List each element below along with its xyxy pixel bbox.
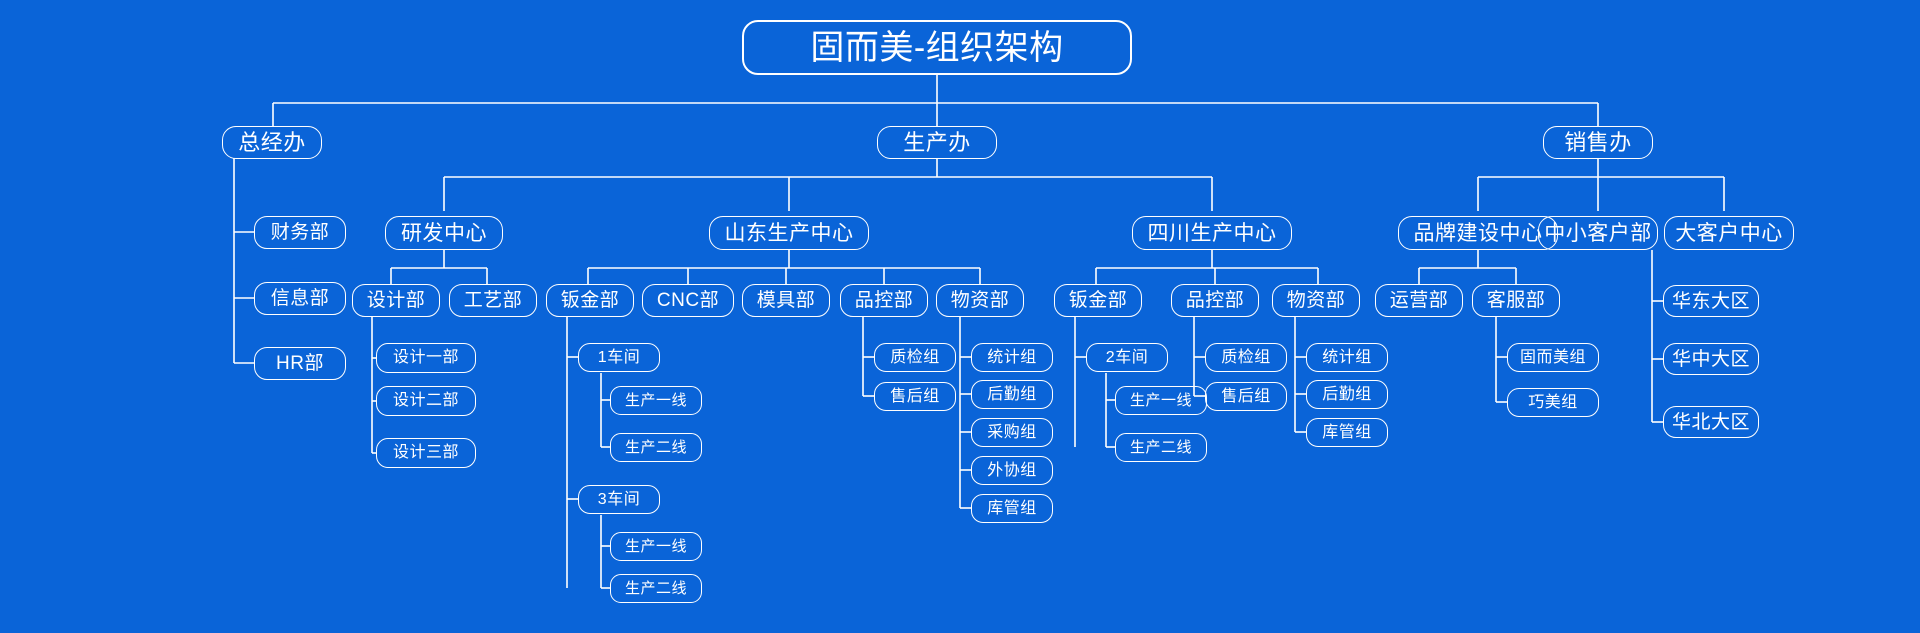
center-label: 中小客户部 [1544, 223, 1652, 244]
team-qiaomei[interactable]: 巧美组 [1507, 388, 1599, 417]
workshop-label: 3车间 [598, 492, 640, 508]
region-north-china[interactable]: 华北大区 [1663, 406, 1759, 438]
team-guermei[interactable]: 固而美组 [1507, 343, 1599, 372]
region-label: 华中大区 [1672, 350, 1750, 369]
center-label: 品牌建设中心 [1414, 223, 1543, 244]
team-label: 后勤组 [1322, 387, 1372, 403]
org-root-node[interactable]: 固而美-组织架构 [742, 20, 1132, 75]
line-label: 生产二线 [625, 581, 687, 596]
team-logistics-sichuan[interactable]: 后勤组 [1306, 380, 1388, 409]
workshop-1[interactable]: 1车间 [578, 343, 660, 372]
dept-label: 钣金部 [1069, 291, 1128, 310]
dept-label: HR部 [276, 354, 324, 373]
team-statistics-shandong[interactable]: 统计组 [971, 343, 1053, 372]
division-general-office[interactable]: 总经办 [222, 126, 322, 159]
line-2-first[interactable]: 生产一线 [1115, 386, 1207, 415]
dept-label: 客服部 [1487, 291, 1546, 310]
team-label: 库管组 [987, 501, 1037, 517]
dept-design[interactable]: 设计部 [352, 284, 440, 317]
dept-customer-service[interactable]: 客服部 [1472, 284, 1560, 317]
dept-operations[interactable]: 运营部 [1375, 284, 1463, 317]
team-statistics-sichuan[interactable]: 统计组 [1306, 343, 1388, 372]
org-root-label: 固而美-组织架构 [810, 31, 1063, 65]
dept-label: 财务部 [271, 223, 330, 242]
dept-hr[interactable]: HR部 [254, 347, 346, 380]
workshop-3[interactable]: 3车间 [578, 485, 660, 514]
dept-materials-sichuan[interactable]: 物资部 [1272, 284, 1360, 317]
center-shandong-production[interactable]: 山东生产中心 [709, 216, 869, 250]
team-after-sales-shandong[interactable]: 售后组 [874, 382, 956, 411]
dept-information[interactable]: 信息部 [254, 282, 346, 315]
dept-label: 信息部 [271, 289, 330, 308]
dept-label: CNC部 [657, 291, 719, 310]
org-chart-canvas: 固而美-组织架构 总经办 生产办 销售办 财务部 信息部 HR部 研发中心 设计… [0, 0, 1920, 633]
dept-mold[interactable]: 模具部 [742, 284, 830, 317]
team-label: 巧美组 [1528, 395, 1578, 411]
dept-label: 品控部 [855, 291, 914, 310]
line-3-second[interactable]: 生产二线 [610, 574, 702, 603]
dept-label: 物资部 [1287, 291, 1346, 310]
team-label: 统计组 [1322, 350, 1372, 366]
team-label: 采购组 [987, 425, 1037, 441]
region-label: 华东大区 [1672, 292, 1750, 311]
team-design-1[interactable]: 设计一部 [376, 343, 476, 373]
team-qc-inspection-shandong[interactable]: 质检组 [874, 343, 956, 372]
dept-label: 品控部 [1186, 291, 1245, 310]
dept-label: 钣金部 [561, 291, 620, 310]
center-key-accounts[interactable]: 大客户中心 [1664, 216, 1794, 250]
workshop-2[interactable]: 2车间 [1086, 343, 1168, 372]
division-sales-office[interactable]: 销售办 [1543, 126, 1653, 159]
center-label: 大客户中心 [1675, 223, 1783, 244]
dept-materials-shandong[interactable]: 物资部 [936, 284, 1024, 317]
team-label: 售后组 [1221, 389, 1271, 405]
dept-label: 工艺部 [464, 291, 523, 310]
workshop-label: 2车间 [1106, 350, 1148, 366]
center-label: 山东生产中心 [725, 223, 854, 244]
region-label: 华北大区 [1672, 413, 1750, 432]
region-central-china[interactable]: 华中大区 [1663, 343, 1759, 375]
team-warehouse-shandong[interactable]: 库管组 [971, 494, 1053, 523]
line-1-second[interactable]: 生产二线 [610, 433, 702, 462]
division-label: 总经办 [238, 132, 306, 154]
center-brand-building[interactable]: 品牌建设中心 [1398, 216, 1558, 250]
line-1-first[interactable]: 生产一线 [610, 386, 702, 415]
team-label: 设计二部 [393, 393, 459, 409]
team-label: 库管组 [1322, 425, 1372, 441]
workshop-label: 1车间 [598, 350, 640, 366]
dept-quality-control-shandong[interactable]: 品控部 [840, 284, 928, 317]
dept-sheet-metal-shandong[interactable]: 钣金部 [546, 284, 634, 317]
team-outsourcing-shandong[interactable]: 外协组 [971, 456, 1053, 485]
dept-label: 设计部 [367, 291, 426, 310]
dept-process-engineering[interactable]: 工艺部 [449, 284, 537, 317]
line-3-first[interactable]: 生产一线 [610, 532, 702, 561]
dept-label: 模具部 [757, 291, 816, 310]
team-label: 设计三部 [393, 445, 459, 461]
dept-sheet-metal-sichuan[interactable]: 钣金部 [1054, 284, 1142, 317]
team-label: 外协组 [987, 463, 1037, 479]
line-2-second[interactable]: 生产二线 [1115, 433, 1207, 462]
team-label: 后勤组 [987, 387, 1037, 403]
dept-quality-control-sichuan[interactable]: 品控部 [1171, 284, 1259, 317]
center-rnd[interactable]: 研发中心 [385, 216, 503, 250]
team-warehouse-sichuan[interactable]: 库管组 [1306, 418, 1388, 447]
region-east-china[interactable]: 华东大区 [1663, 285, 1759, 317]
division-label: 生产办 [903, 132, 971, 154]
line-label: 生产一线 [1130, 393, 1192, 408]
division-production-office[interactable]: 生产办 [877, 126, 997, 159]
team-label: 售后组 [890, 389, 940, 405]
team-label: 统计组 [987, 350, 1037, 366]
line-label: 生产一线 [625, 393, 687, 408]
center-label: 研发中心 [401, 223, 487, 244]
center-label: 四川生产中心 [1148, 223, 1277, 244]
dept-sme-customers[interactable]: 中小客户部 [1538, 216, 1658, 250]
line-label: 生产一线 [625, 539, 687, 554]
team-label: 质检组 [1221, 350, 1271, 366]
dept-label: 运营部 [1390, 291, 1449, 310]
team-design-2[interactable]: 设计二部 [376, 386, 476, 416]
team-label: 固而美组 [1520, 350, 1586, 366]
dept-finance[interactable]: 财务部 [254, 216, 346, 249]
team-qc-inspection-sichuan[interactable]: 质检组 [1205, 343, 1287, 372]
team-procurement-shandong[interactable]: 采购组 [971, 418, 1053, 447]
dept-label: 物资部 [951, 291, 1010, 310]
line-label: 生产二线 [625, 440, 687, 455]
division-label: 销售办 [1564, 132, 1632, 154]
team-after-sales-sichuan[interactable]: 售后组 [1205, 382, 1287, 411]
team-label: 设计一部 [393, 350, 459, 366]
team-design-3[interactable]: 设计三部 [376, 438, 476, 468]
dept-cnc[interactable]: CNC部 [642, 284, 734, 317]
line-label: 生产二线 [1130, 440, 1192, 455]
center-sichuan-production[interactable]: 四川生产中心 [1132, 216, 1292, 250]
team-label: 质检组 [890, 350, 940, 366]
team-logistics-shandong[interactable]: 后勤组 [971, 380, 1053, 409]
